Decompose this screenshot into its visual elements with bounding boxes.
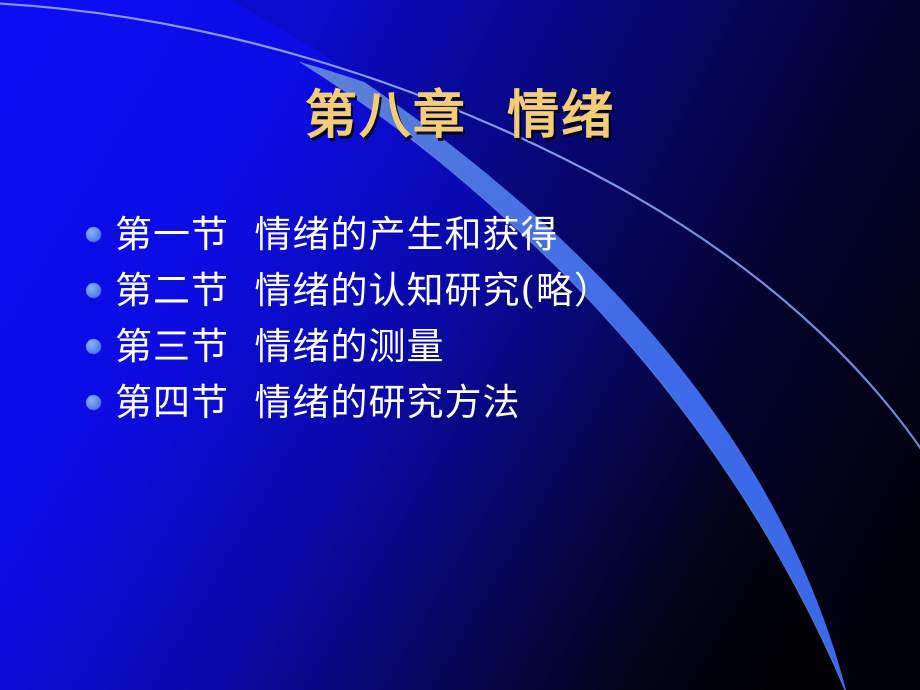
filled-circle-bullet-icon	[86, 283, 101, 298]
list-item[interactable]: 第一节 情绪的产生和获得	[86, 206, 786, 262]
slide-title: 第八章 情绪	[0, 86, 920, 146]
list-item[interactable]: 第二节 情绪的认知研究(略）	[86, 262, 786, 318]
filled-circle-bullet-icon	[86, 339, 101, 354]
list-item-label: 第三节 情绪的测量	[115, 328, 445, 365]
list-item[interactable]: 第四节 情绪的研究方法	[86, 374, 786, 430]
slide-content: 第八章 情绪 第一节 情绪的产生和获得 第二节 情绪的认知研究(略） 第三节 情…	[0, 0, 920, 690]
list-item-label: 第二节 情绪的认知研究(略）	[115, 272, 612, 309]
presentation-slide: 第八章 情绪 第一节 情绪的产生和获得 第二节 情绪的认知研究(略） 第三节 情…	[0, 0, 920, 690]
filled-circle-bullet-icon	[86, 227, 101, 242]
list-item-label: 第四节 情绪的研究方法	[115, 384, 521, 421]
filled-circle-bullet-icon	[86, 395, 101, 410]
section-list: 第一节 情绪的产生和获得 第二节 情绪的认知研究(略） 第三节 情绪的测量 第四…	[86, 206, 786, 430]
list-item-label: 第一节 情绪的产生和获得	[115, 216, 559, 253]
list-item[interactable]: 第三节 情绪的测量	[86, 318, 786, 374]
